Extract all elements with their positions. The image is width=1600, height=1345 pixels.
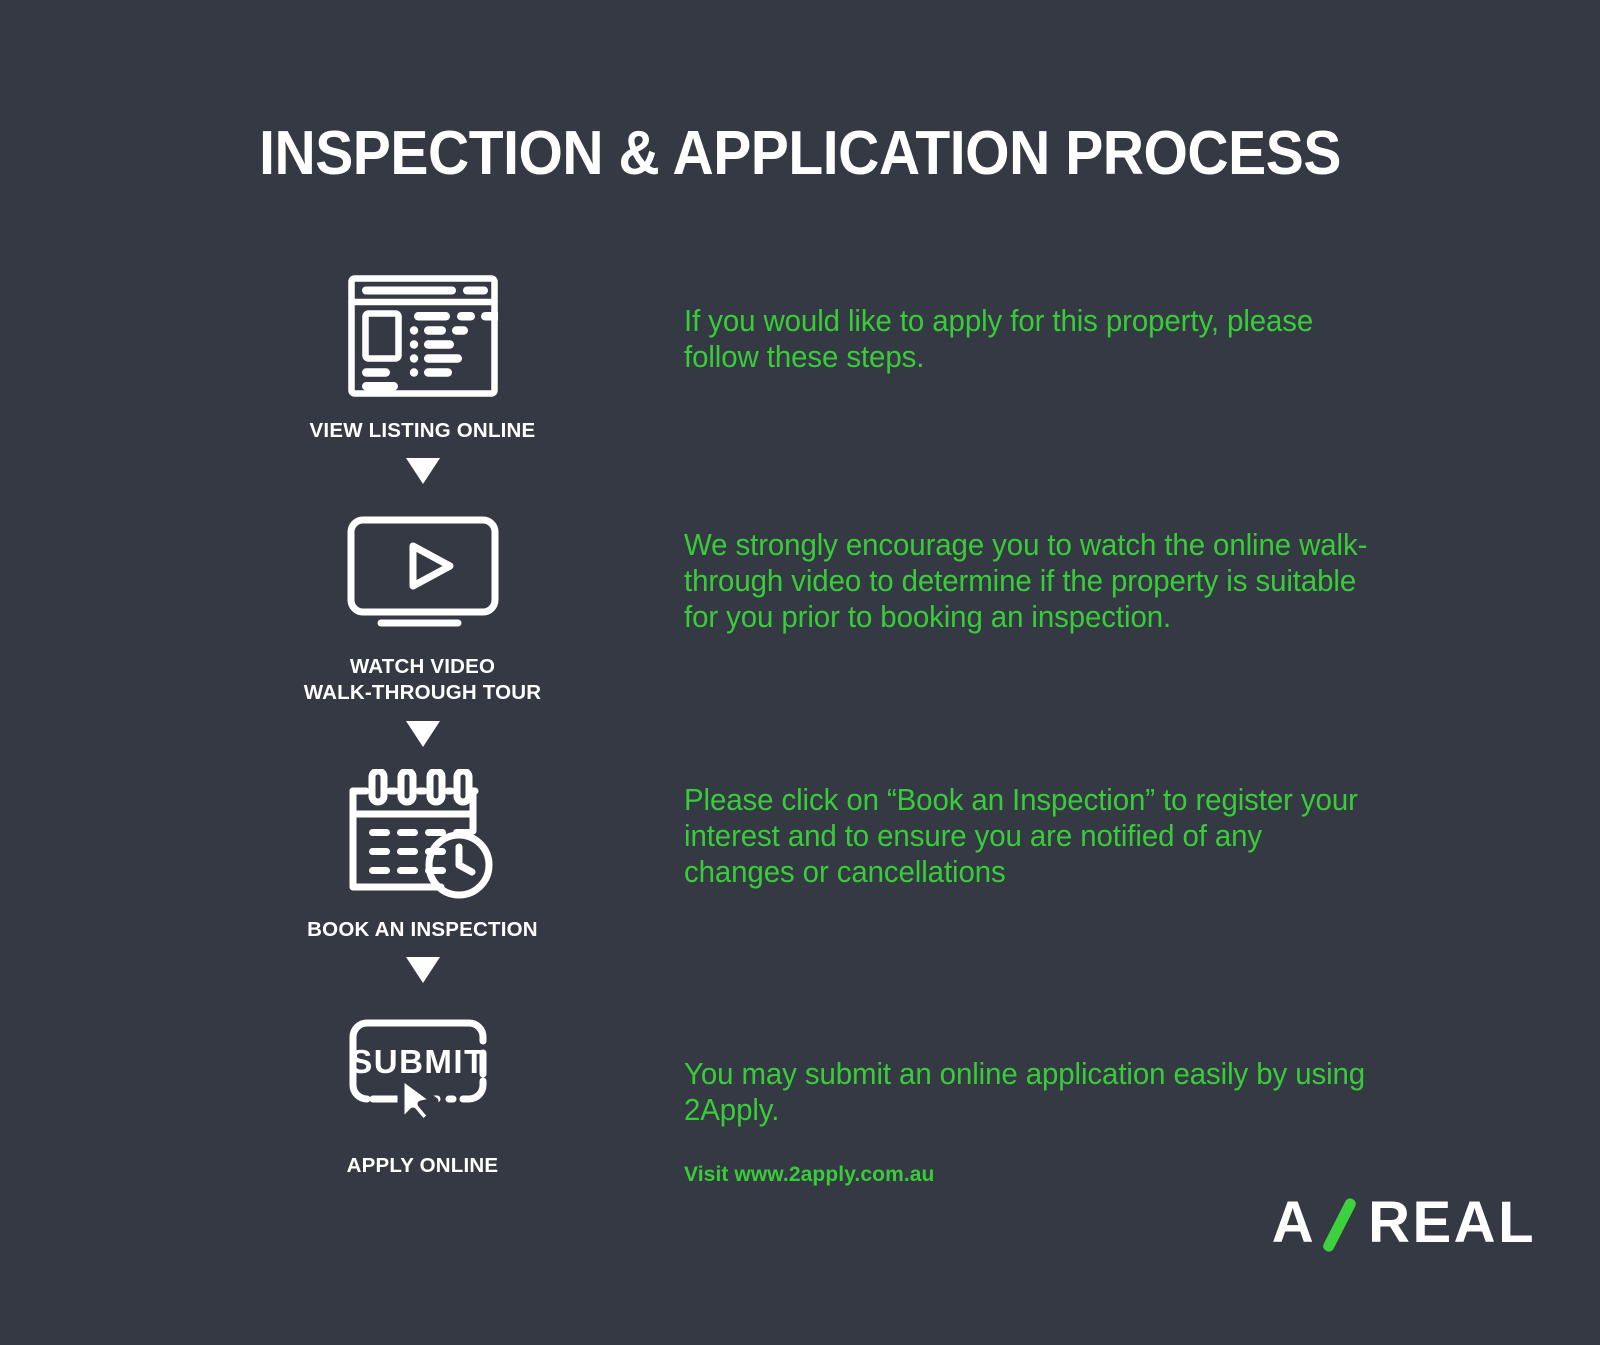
submit-icon-label: SUBMIT xyxy=(350,1043,486,1080)
calendar-clock-icon xyxy=(270,761,575,909)
flow-step-watch-video: WATCH VIDEO WALK-THROUGH TOUR xyxy=(270,498,575,706)
visit-2apply-link[interactable]: Visit www.2apply.com.au xyxy=(684,1163,935,1187)
flow-step-label: VIEW LISTING ONLINE xyxy=(270,418,575,444)
flow-step-label: WATCH VIDEO WALK-THROUGH TOUR xyxy=(270,654,575,706)
flow-step-book-inspection: BOOK AN INSPECTION xyxy=(270,761,575,943)
flow-step-apply-online: SUBMIT APPLY ONLINE xyxy=(270,997,575,1179)
submit-button-cursor-icon: SUBMIT xyxy=(270,997,575,1145)
step-description-apply-online: You may submit an online application eas… xyxy=(684,1056,1379,1128)
areal-logo[interactable]: A REAL xyxy=(1272,1192,1536,1254)
logo-letter-a: A xyxy=(1272,1194,1316,1252)
triangle-down-icon xyxy=(270,707,575,761)
flow-step-label: APPLY ONLINE xyxy=(270,1153,575,1179)
process-flow-column: VIEW LISTING ONLINE WATCH VIDEO WALK-THR… xyxy=(270,262,575,1179)
flow-step-view-listing: VIEW LISTING ONLINE xyxy=(270,262,575,444)
step-description-book-inspection: Please click on “Book an Inspection” to … xyxy=(684,782,1379,890)
triangle-down-icon xyxy=(270,444,575,498)
browser-listing-icon xyxy=(270,262,575,410)
video-play-monitor-icon xyxy=(270,498,575,646)
flow-step-label: BOOK AN INSPECTION xyxy=(270,917,575,943)
triangle-down-icon xyxy=(270,943,575,997)
page-title: INSPECTION & APPLICATION PROCESS xyxy=(64,118,1536,189)
inspection-application-process-poster: INSPECTION & APPLICATION PROCESS xyxy=(0,0,1600,1345)
step-description-watch-video: We strongly encourage you to watch the o… xyxy=(684,527,1398,635)
green-slash-icon xyxy=(1322,1194,1366,1252)
step-description-view-listing: If you would like to apply for this prop… xyxy=(684,303,1360,375)
logo-word-real: REAL xyxy=(1368,1194,1536,1252)
